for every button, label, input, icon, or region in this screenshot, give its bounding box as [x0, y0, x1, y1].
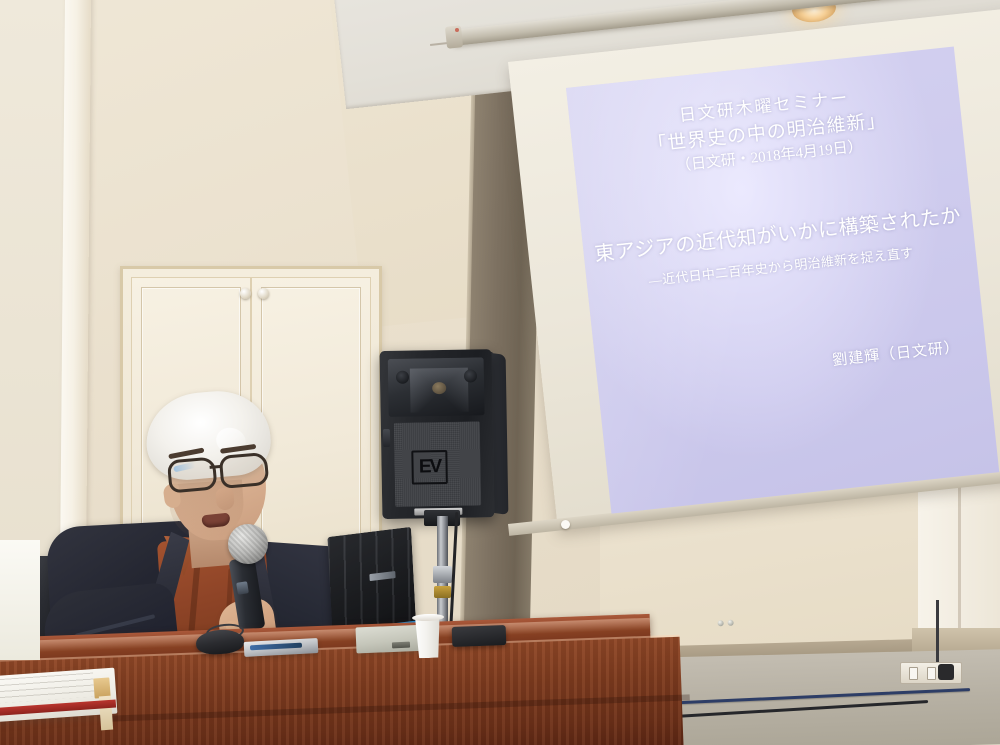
speaker-horn: [388, 357, 485, 417]
stand-height-collar[interactable]: [433, 566, 452, 583]
outlet-socket: [909, 667, 918, 680]
speaker-handle-latch: [383, 429, 390, 447]
microphone-body: [229, 556, 266, 631]
outlet-socket: [927, 667, 936, 680]
window-light: [0, 540, 40, 660]
lens-glint: [173, 462, 196, 473]
slide-content: 日文研木曜セミナー 「世界史の中の明治維新」 （日文研・2018年4月19日） …: [566, 47, 999, 514]
speaker-cabinet: EV: [380, 349, 495, 519]
screen-bracket: [445, 25, 463, 49]
black-equipment-box: [452, 625, 507, 647]
projected-slide: 日文研木曜セミナー 「世界史の中の明治維新」 （日文研・2018年4月19日） …: [566, 47, 999, 514]
screen-pull-bead[interactable]: [561, 520, 570, 529]
ev-logo: EV: [411, 450, 448, 485]
plug-connector: [938, 664, 954, 680]
slide-main-block: 東アジアの近代知がいかに構築されたか ―近代日中二百年史から明治維新を捉え直す: [582, 198, 976, 296]
stand-lock-collar[interactable]: [434, 586, 451, 598]
screen-bracket-indicator: [455, 28, 459, 32]
control-unit-label: [392, 642, 410, 649]
slide-author: 劉建輝（日文研）: [831, 336, 961, 370]
lens-left: [167, 456, 218, 493]
handheld-microphone[interactable]: [216, 524, 274, 636]
slide-header: 日文研木曜セミナー 「世界史の中の明治維新」 （日文研・2018年4月19日）: [569, 74, 965, 189]
microphone-switch[interactable]: [236, 581, 249, 595]
lens-right: [219, 452, 270, 489]
microphone-grille: [228, 524, 268, 564]
door-knob-right[interactable]: [258, 288, 269, 299]
pa-speaker: EV: [380, 349, 511, 521]
wall-cable: [936, 600, 939, 666]
lecture-room-photo: 日文研木曜セミナー 「世界史の中の明治維新」 （日文研・2018年4月19日） …: [0, 0, 1000, 745]
laptop-brand-logo: [369, 571, 395, 581]
door-knob-left[interactable]: [240, 288, 251, 299]
